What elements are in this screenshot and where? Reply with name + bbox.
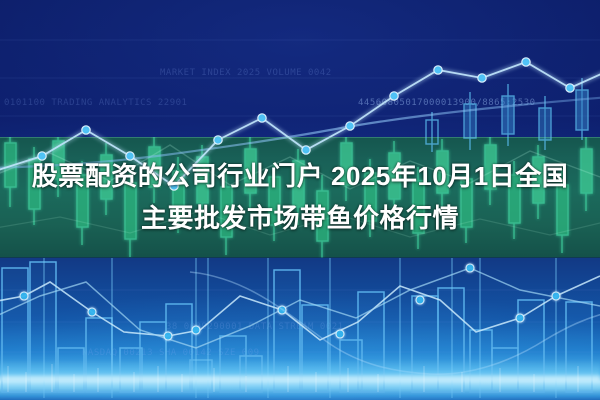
ghost-text-2: MARKET INDEX 2025 VOLUME 0042 xyxy=(160,68,332,78)
title-line-1: 股票配资的公司行业门户 2025年10月1日全国 xyxy=(0,155,600,197)
banner-title: 股票配资的公司行业门户 2025年10月1日全国 主要批发市场带鱼价格行情 xyxy=(0,155,600,239)
title-line-2: 主要批发市场带鱼价格行情 xyxy=(0,197,600,239)
ghost-text-1: 44560805017000013900/8865:2530 xyxy=(358,98,536,108)
ghost-text-0: 0101100 TRADING ANALYTICS 22901 xyxy=(4,98,187,108)
stock-news-banner: 0101100 TRADING ANALYTICS 22901 44560805… xyxy=(0,0,600,400)
ghost-text-3: 38 0039290001 DATA STREAM 0021 xyxy=(166,322,344,332)
ghost-text-4: NASDAQ 00213 SHA 00142 SZE 009 xyxy=(82,348,260,358)
lower-node-line-2 xyxy=(0,268,600,348)
